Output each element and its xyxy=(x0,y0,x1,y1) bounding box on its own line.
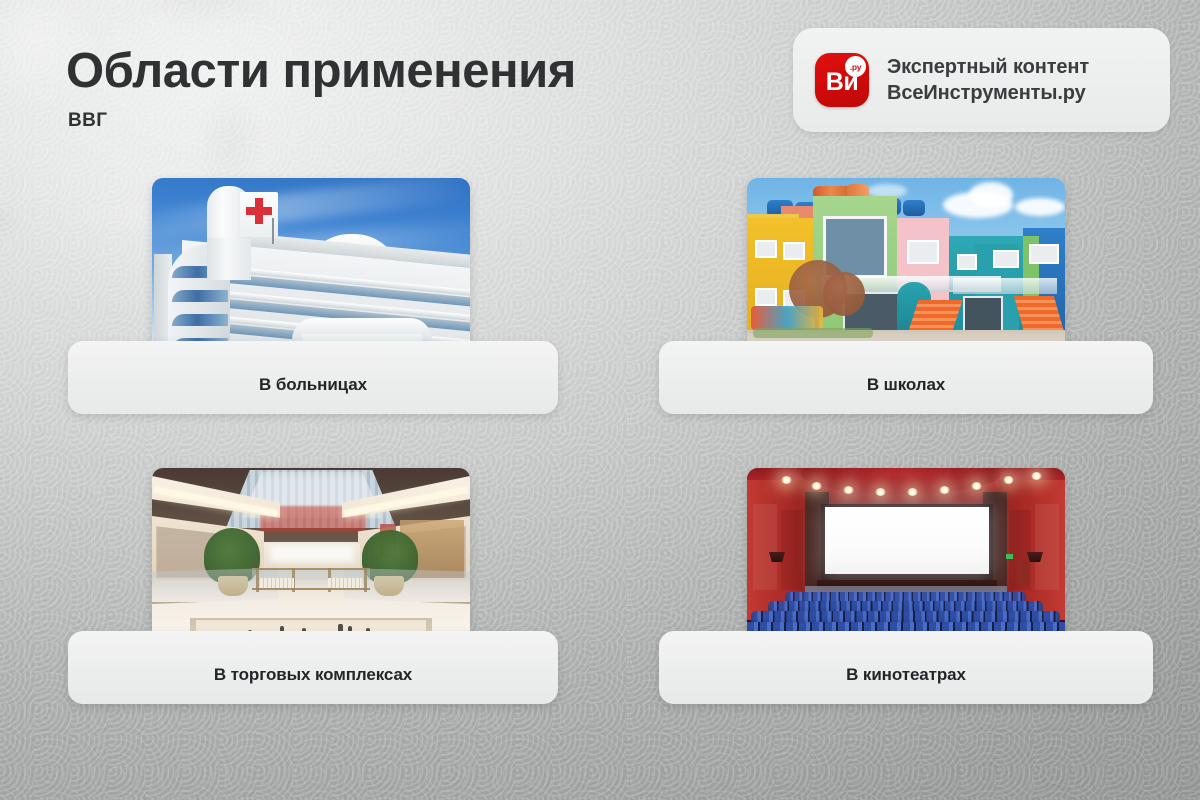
brand-badge: Ви .ру Экспертный контент ВсеИнструменты… xyxy=(793,28,1170,132)
brand-tagline: Экспертный контент xyxy=(887,56,1089,79)
logo-domain-badge: .ру xyxy=(845,56,866,77)
vseinstrumenty-logo-icon: Ви .ру xyxy=(815,53,869,107)
card-label-panel-hospital: В больницах xyxy=(68,341,558,414)
card-label-panel-cinema: В кинотеатрах xyxy=(659,631,1153,704)
card-label-panel-school: В школах xyxy=(659,341,1153,414)
hospital-building-photo xyxy=(152,178,470,355)
shopping-mall-interior-photo xyxy=(152,468,470,645)
card-label-hospital: В больницах xyxy=(259,375,367,395)
brand-badge-text: Экспертный контент ВсеИнструменты.ру xyxy=(887,56,1089,105)
cinema-auditorium-photo xyxy=(747,468,1065,645)
card-label-panel-mall: В торговых комплексах xyxy=(68,631,558,704)
card-label-mall: В торговых комплексах xyxy=(214,665,412,685)
exit-sign-icon xyxy=(1006,554,1013,559)
colorful-school-building-photo xyxy=(747,178,1065,355)
card-label-cinema: В кинотеатрах xyxy=(846,665,966,685)
page-subtitle: ВВГ xyxy=(68,110,107,132)
brand-name: ВсеИнструменты.ру xyxy=(887,82,1089,105)
card-label-school: В школах xyxy=(867,375,945,395)
cinema-screen xyxy=(825,507,989,574)
slide-canvas: Области применения ВВГ Ви .ру Экспертный… xyxy=(0,0,1200,800)
page-title: Области применения xyxy=(66,46,576,97)
